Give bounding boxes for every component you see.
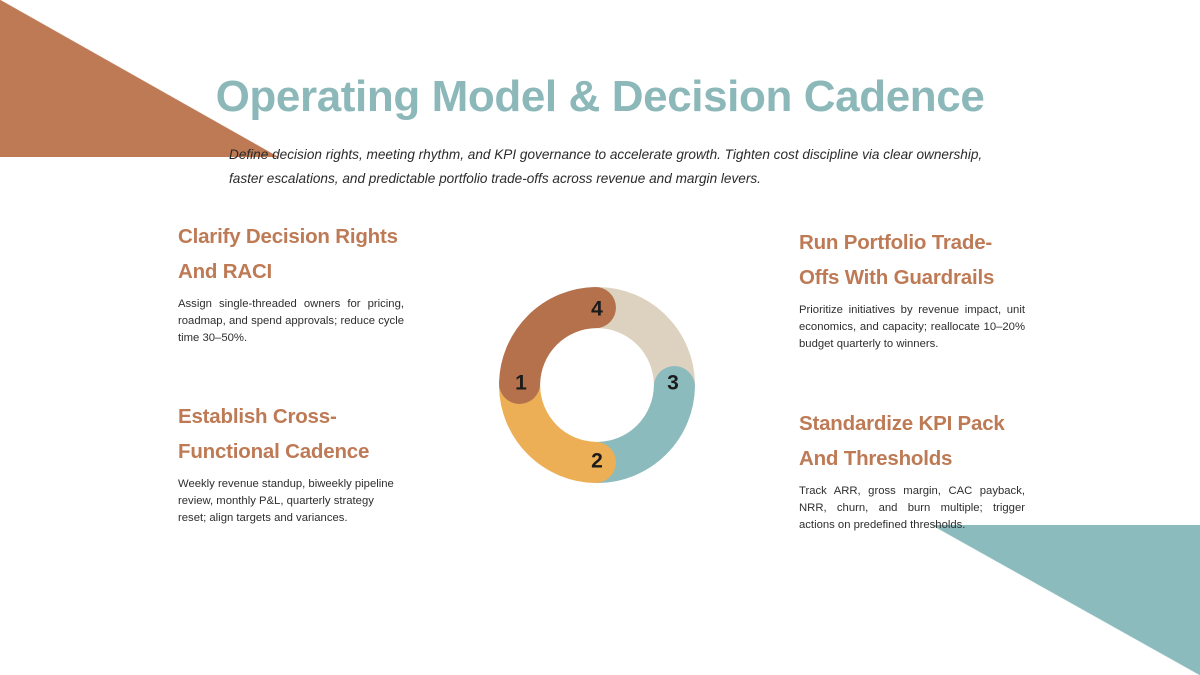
donut-chart-svg: 1234 [497, 285, 697, 485]
donut-segment-group [520, 308, 675, 463]
content-block-3: Run Portfolio Trade-Offs With Guardrails… [799, 225, 1025, 353]
donut-number-2: 2 [591, 450, 603, 473]
donut-number-1: 1 [515, 372, 527, 395]
block-4-heading: Standardize KPI Pack And Thresholds [799, 406, 1025, 477]
page-subtitle: Define decision rights, meeting rhythm, … [229, 143, 1009, 191]
content-block-1: Clarify Decision Rights And RACI Assign … [178, 219, 404, 347]
block-3-heading: Run Portfolio Trade-Offs With Guardrails [799, 225, 1025, 296]
block-3-body: Prioritize initiatives by revenue impact… [799, 302, 1025, 353]
donut-chart: 1234 [497, 285, 697, 485]
donut-number-4: 4 [591, 298, 603, 321]
donut-number-3: 3 [667, 372, 679, 395]
block-1-body: Assign single-threaded owners for pricin… [178, 296, 404, 347]
corner-decoration-bottom-right [932, 525, 1200, 675]
page-title: Operating Model & Decision Cadence [0, 72, 1200, 123]
donut-segment-1[interactable] [520, 308, 596, 384]
block-2-body: Weekly revenue standup, biweekly pipelin… [178, 476, 404, 527]
slide-canvas: Operating Model & Decision Cadence Defin… [0, 0, 1200, 675]
content-block-2: Establish Cross-Functional Cadence Weekl… [178, 399, 404, 527]
content-block-4: Standardize KPI Pack And Thresholds Trac… [799, 406, 1025, 534]
block-2-heading: Establish Cross-Functional Cadence [178, 399, 404, 470]
block-4-body: Track ARR, gross margin, CAC payback, NR… [799, 483, 1025, 534]
block-1-heading: Clarify Decision Rights And RACI [178, 219, 404, 290]
